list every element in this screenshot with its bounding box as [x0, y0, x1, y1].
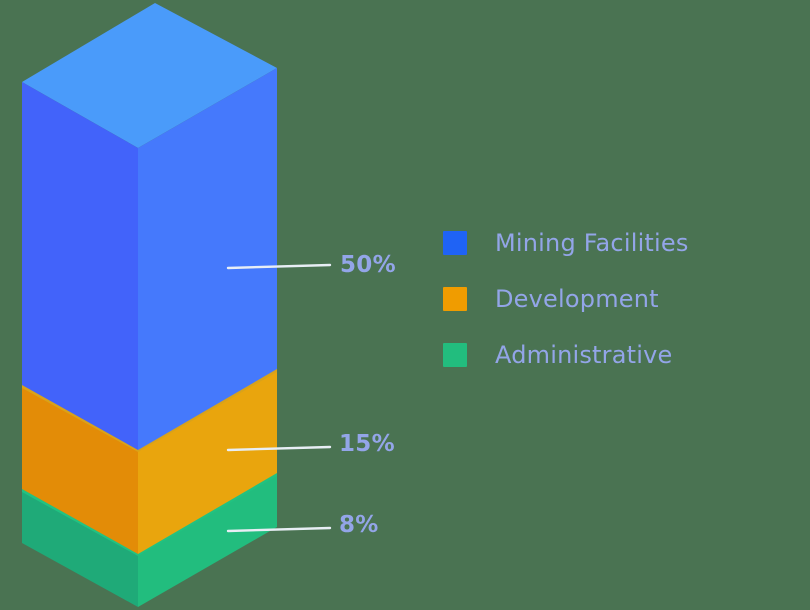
chart-legend: Mining Facilities Development Administra… — [443, 231, 783, 367]
legend-item-mining-facilities[interactable]: Mining Facilities — [443, 231, 783, 255]
legend-label-mining-facilities: Mining Facilities — [495, 231, 689, 255]
legend-swatch-icon-administrative — [443, 343, 467, 367]
legend-item-development[interactable]: Development — [443, 287, 783, 311]
value-label-administrative: 8% — [339, 512, 379, 538]
legend-label-development: Development — [495, 287, 659, 311]
legend-swatch-icon-development — [443, 287, 467, 311]
bar-segment-mining-facilities[interactable] — [22, 3, 277, 452]
value-label-mining-facilities: 50% — [340, 252, 396, 278]
legend-label-administrative: Administrative — [495, 343, 673, 367]
value-label-development: 15% — [339, 431, 395, 457]
legend-item-administrative[interactable]: Administrative — [443, 343, 783, 367]
chart-container: 50% 15% 8% Mining Facilities Development… — [0, 0, 810, 610]
legend-swatch-icon-mining-facilities — [443, 231, 467, 255]
